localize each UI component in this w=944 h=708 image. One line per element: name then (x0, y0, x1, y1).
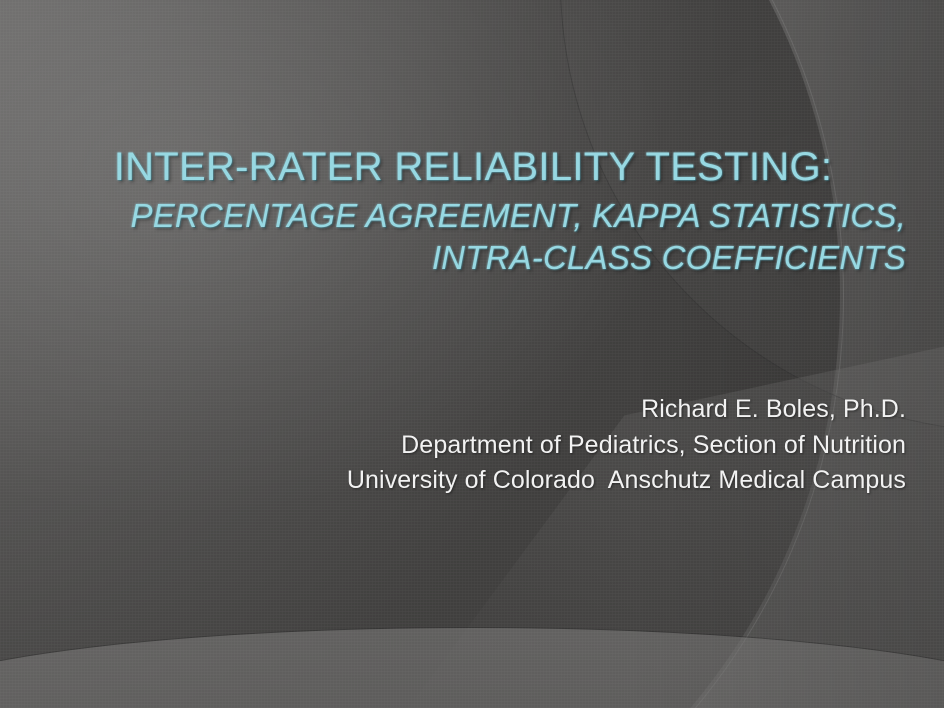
slide-content: INTER-RATER RELIABILITY TESTING: PERCENT… (0, 0, 944, 708)
author-affiliation-block: Richard E. Boles, Ph.D. Department of Pe… (347, 392, 906, 499)
author-institution: University of Colorado Anschutz Medical … (347, 463, 906, 499)
slide-subtitle-line-1: PERCENTAGE AGREEMENT, KAPPA STATISTICS, (40, 195, 906, 237)
title-slide: INTER-RATER RELIABILITY TESTING: PERCENT… (0, 0, 944, 708)
slide-title-main: INTER-RATER RELIABILITY TESTING: (40, 146, 906, 188)
slide-title-block: INTER-RATER RELIABILITY TESTING: PERCENT… (40, 146, 906, 279)
author-name: Richard E. Boles, Ph.D. (347, 392, 906, 428)
slide-subtitle-line-2: INTRA-CLASS COEFFICIENTS (40, 237, 906, 279)
author-department: Department of Pediatrics, Section of Nut… (347, 428, 906, 464)
